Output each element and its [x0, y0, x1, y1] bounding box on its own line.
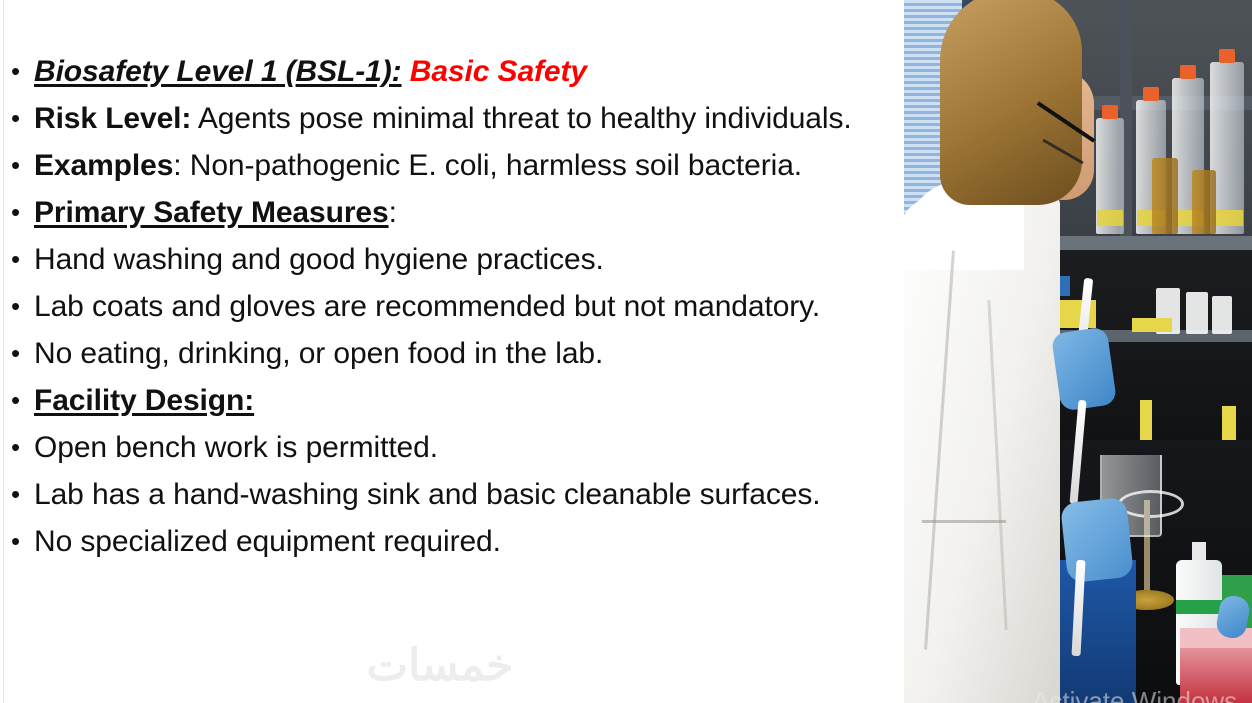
- bullet-marker-icon: •: [11, 48, 23, 95]
- lab-photo: Activate Windows: [904, 0, 1252, 703]
- squeeze-bottle: [1212, 296, 1232, 334]
- bullet-item: •Hand washing and good hygiene practices…: [0, 236, 880, 283]
- bullet-item: •No eating, drinking, or open food in th…: [0, 330, 880, 377]
- bullet-text-segment: Primary Safety Measures: [34, 196, 389, 229]
- gloved-hand-upper: [1051, 326, 1117, 411]
- bullet-marker-icon: •: [11, 283, 23, 330]
- bullet-text-segment: Lab has a hand-washing sink and basic cl…: [34, 478, 820, 511]
- bottle-cap: [1143, 87, 1159, 101]
- bullet-text-segment: No specialized equipment required.: [34, 525, 501, 558]
- bullet-marker-icon: •: [11, 95, 23, 142]
- khamsat-watermark: خمسات: [0, 640, 880, 691]
- bullet-marker-icon: •: [11, 377, 23, 424]
- bullet-text-segment: Examples: [34, 149, 173, 182]
- bullet-text-segment: Agents pose minimal threat to healthy in…: [191, 102, 851, 135]
- bullet-marker-icon: •: [11, 189, 23, 236]
- squeeze-bottle: [1186, 292, 1208, 334]
- coat-pocket: [922, 520, 1006, 523]
- bullet-item: •No specialized equipment required.: [0, 518, 880, 565]
- bottle-label: [1097, 210, 1123, 226]
- bullet-text-segment: No eating, drinking, or open food in the…: [34, 337, 603, 370]
- slide-canvas: •Biosafety Level 1 (BSL-1): Basic Safety…: [0, 0, 1252, 703]
- bullet-item: •Lab coats and gloves are recommended bu…: [0, 283, 880, 330]
- bullet-marker-icon: •: [11, 518, 23, 565]
- bullet-item: •Biosafety Level 1 (BSL-1): Basic Safety: [0, 48, 880, 95]
- bullet-text-segment: Hand washing and good hygiene practices.: [34, 243, 604, 276]
- bottle-cap: [1102, 105, 1118, 119]
- windows-activation-watermark: Activate Windows: [1032, 686, 1237, 703]
- bullet-item: •Lab has a hand-washing sink and basic c…: [0, 471, 880, 518]
- bullet-text-segment: [402, 55, 410, 88]
- bullet-item: •Risk Level: Agents pose minimal threat …: [0, 95, 880, 142]
- bullet-marker-icon: •: [11, 424, 23, 471]
- reagent-bottle: [1096, 118, 1124, 234]
- bullet-text-segment: Risk Level:: [34, 102, 191, 135]
- bottle-cap: [1219, 49, 1235, 63]
- bullet-text-segment: :: [389, 196, 397, 229]
- bullet-list: •Biosafety Level 1 (BSL-1): Basic Safety…: [0, 48, 880, 565]
- amber-bottle: [1152, 158, 1178, 234]
- bullet-marker-icon: •: [11, 471, 23, 518]
- bullet-marker-icon: •: [11, 142, 23, 189]
- wash-bottle-band: [1176, 600, 1222, 614]
- warning-label: [1132, 318, 1172, 332]
- bullet-text-segment: Lab coats and gloves are recommended but…: [34, 290, 820, 323]
- bullet-marker-icon: •: [11, 236, 23, 283]
- bullet-text-segment: : Non-pathogenic E. coli, harmless soil …: [173, 149, 802, 182]
- bullet-text-segment: Biosafety Level 1 (BSL-1):: [34, 55, 402, 88]
- bullet-text-segment: Open bench work is permitted.: [34, 431, 438, 464]
- bullet-item: •Primary Safety Measures:: [0, 189, 880, 236]
- gloved-hand-lower: [1060, 497, 1134, 583]
- bullet-text-segment: Basic Safety: [410, 55, 587, 88]
- bullet-item: •Examples: Non-pathogenic E. coli, harml…: [0, 142, 880, 189]
- bullet-marker-icon: •: [11, 330, 23, 377]
- amber-bottle: [1192, 170, 1216, 234]
- bullet-item: •Open bench work is permitted.: [0, 424, 880, 471]
- bullet-text-segment: Facility Design:: [34, 384, 254, 417]
- bottle-cap: [1180, 65, 1196, 79]
- bullet-item: •Facility Design:: [0, 377, 880, 424]
- wash-bottle-neck: [1192, 542, 1206, 562]
- hair: [940, 0, 1082, 205]
